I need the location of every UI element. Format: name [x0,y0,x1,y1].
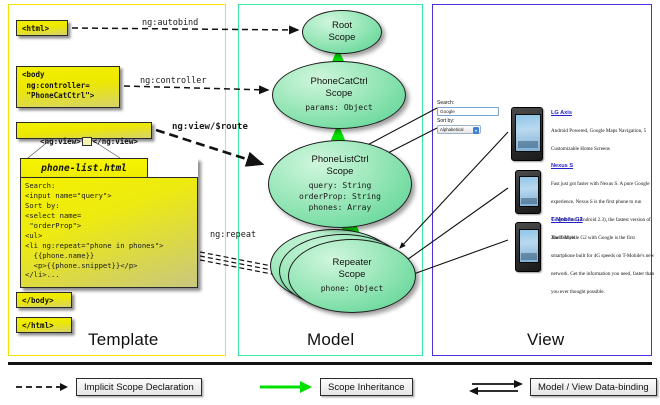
phone-thumbnail-3 [515,222,541,272]
legend-label: Scope Inheritance [320,378,413,396]
panel-label-view: View [527,330,564,350]
label-ng-controller: ng:controller [140,76,207,86]
green-solid-arrow-icon [258,378,314,396]
diagram-root: <html> <body ng:controller= "PhoneCatCtr… [0,0,660,405]
search-label: Search: [437,100,503,107]
phone-screen-3 [519,229,540,264]
legend-divider [8,362,652,365]
tag-body-close: </body> [16,292,72,308]
label-ng-repeat: ng:repeat [210,230,256,240]
sort-select-value: Alphabetical [440,127,463,132]
legend-label: Implicit Scope Declaration [76,378,202,396]
scope-repeater-name: Repeater Scope [332,257,371,280]
code-note-body: Search: <input name="query"> Sort by: <s… [20,177,198,288]
scope-root-name: Root Scope [329,20,356,43]
tag-body-open: <body ng:controller= "PhoneCatCtrl"> [16,66,120,108]
phone-thumbnail-2 [515,170,541,214]
scope-repeater-props: phone: Object [321,284,384,295]
scope-phonelistctrl: PhoneListCtrl Scope query: String orderP… [268,140,412,228]
view-search-form: Search: Google Sort by: Alphabetical ▾ [437,100,503,134]
phone-list-item: LG Axis Android Powered, Google Maps Nav… [551,110,655,155]
ngview-close-label: </ng:view> [93,137,138,146]
scope-root: Root Scope [302,10,382,54]
label-ng-autobind: ng:autobind [142,18,198,28]
label-ng-view-route: ng:view/$route [172,122,248,132]
scope-phonelistctrl-props: query: String orderProp: String phones: … [299,181,381,213]
double-arrow-icon [468,378,524,396]
phone-name-link[interactable]: T-Mobile G2 [551,217,655,223]
phone-thumbnail-1 [511,107,543,161]
panel-label-model: Model [307,330,354,350]
scope-phonelistctrl-name: PhoneListCtrl Scope [311,154,368,177]
phone-name-link[interactable]: Nexus S [551,163,655,169]
legend-item-scope-inheritance: Scope Inheritance [258,378,413,396]
phone-screen-1 [515,114,540,151]
chevron-down-icon: ▾ [473,127,479,134]
tag-ngview: <ng:view></ng:view> [16,122,152,139]
code-note-phone-list: phone-list.html Search: <input name="que… [20,158,198,288]
sort-select[interactable]: Alphabetical ▾ [437,125,481,134]
phone-snippet: The T-Mobile G2 with Google is the first… [551,235,654,295]
tag-html-close: </html> [16,317,72,333]
ngview-open-label: <ng:view> [40,137,81,146]
code-note-title: phone-list.html [20,158,148,178]
scope-phonecatctrl-name: PhoneCatCtrl Scope [310,76,367,99]
legend-label: Model / View Data-binding [530,378,657,396]
search-input[interactable]: Google [437,107,499,116]
phone-snippet: Android Powered, Google Maps Navigation,… [551,128,646,152]
scope-repeater: Repeater Scope phone: Object [288,239,416,313]
panel-label-template: Template [88,330,159,350]
phone-name-link[interactable]: LG Axis [551,110,655,116]
scope-phonecatctrl: PhoneCatCtrl Scope params: Object [272,61,406,129]
phone-list-item: T-Mobile G2 The T-Mobile G2 with Google … [551,217,655,298]
ngview-slot-icon [82,137,92,146]
scope-phonecatctrl-props: params: Object [305,103,372,114]
legend-item-implicit-scope: Implicit Scope Declaration [14,378,202,396]
legend-item-data-binding: Model / View Data-binding [468,378,657,396]
tag-html-open: <html> [16,20,68,36]
sort-label: Sort by: [437,118,503,125]
dashed-arrow-icon [14,378,70,396]
phone-screen-2 [519,176,540,207]
